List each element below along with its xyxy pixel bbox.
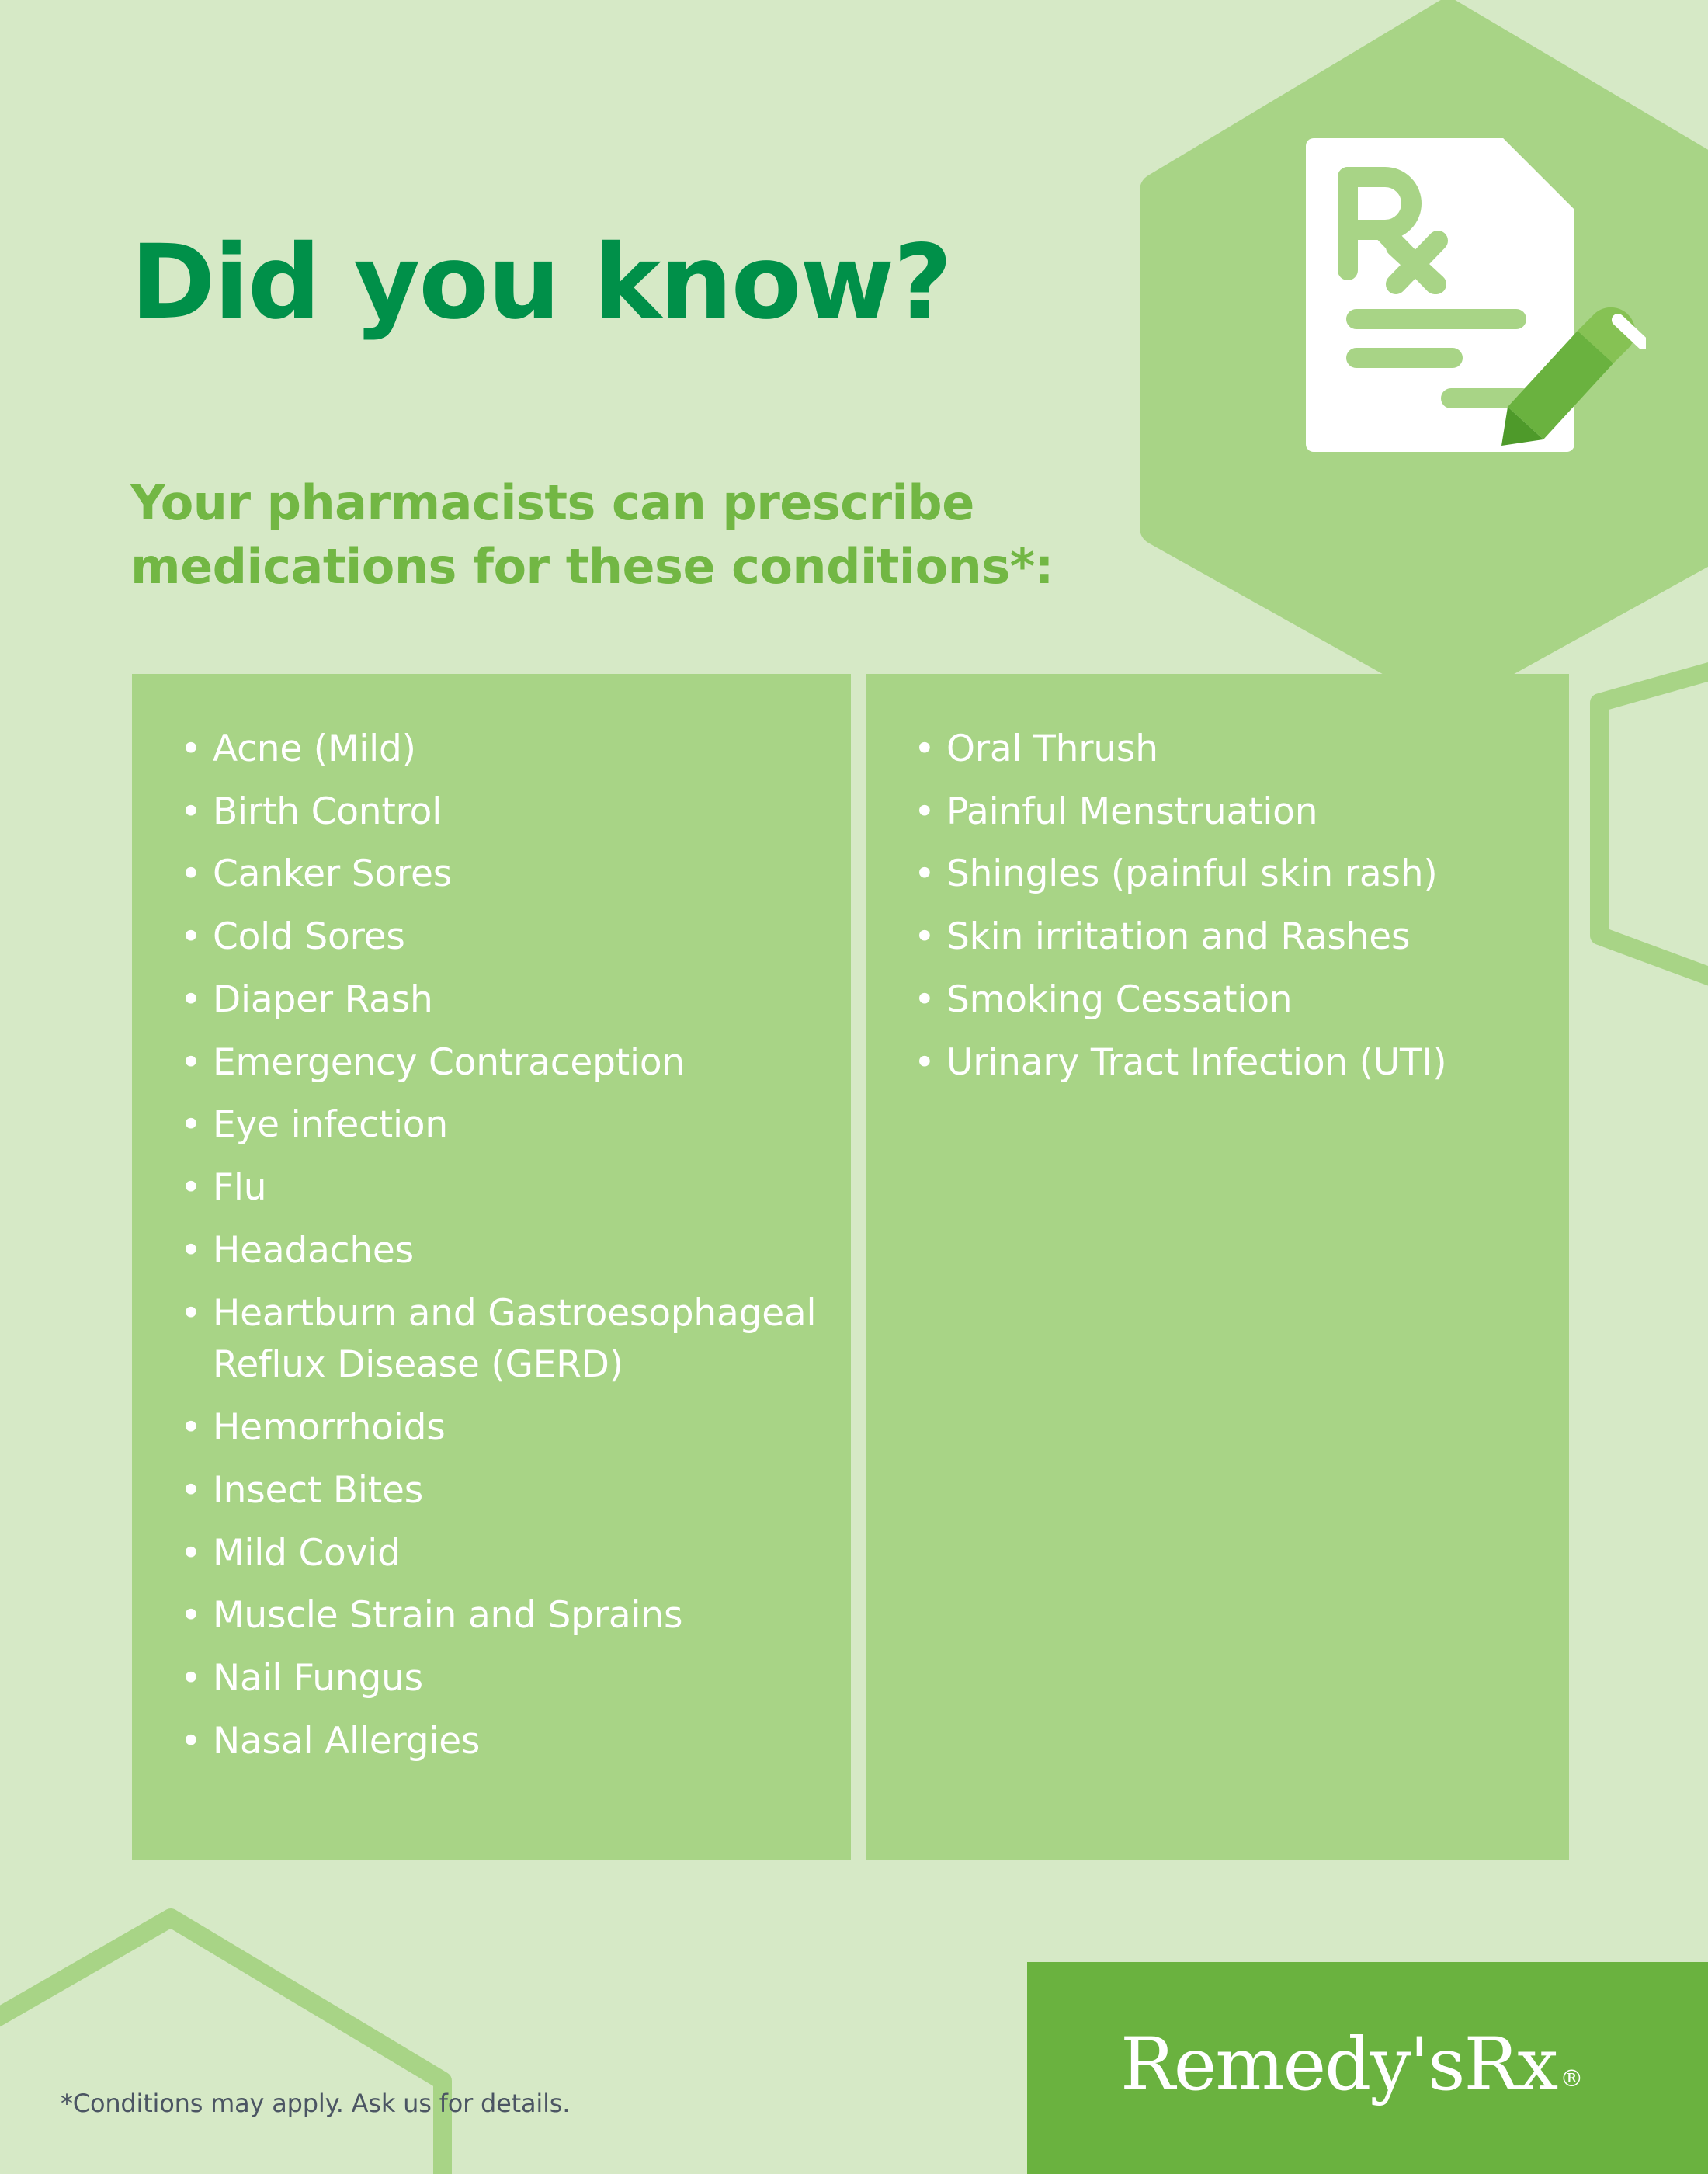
bullet-icon: •	[914, 724, 936, 776]
bullet-icon: •	[914, 849, 936, 901]
brand-logo-name: Remedy'sRx	[1120, 2023, 1557, 2107]
condition-label: Headaches	[213, 1229, 414, 1272]
bullet-icon: •	[180, 1225, 202, 1277]
conditions-card-left: •Acne (Mild)•Birth Control•Canker Sores•…	[132, 674, 851, 1860]
condition-label: Cold Sores	[213, 915, 405, 958]
condition-list-item: •Flu	[175, 1162, 820, 1214]
condition-label: Shingles (painful skin rash)	[946, 853, 1437, 895]
condition-list-item: •Painful Menstruation	[909, 787, 1538, 839]
bullet-icon: •	[180, 1162, 202, 1214]
condition-label: Smoking Cessation	[946, 978, 1292, 1021]
bullet-icon: •	[180, 849, 202, 901]
condition-list-item: •Nasal Allergies	[175, 1716, 820, 1768]
condition-label: Skin irritation and Rashes	[946, 915, 1410, 958]
bullet-icon: •	[180, 1716, 202, 1768]
page-subtitle: Your pharmacists can prescribe medicatio…	[130, 471, 1109, 599]
condition-list-item: •Heartburn and Gastroesophageal Reflux D…	[175, 1288, 820, 1391]
bullet-icon: •	[180, 1465, 202, 1517]
condition-list-item: •Canker Sores	[175, 849, 820, 901]
condition-list-item: •Oral Thrush	[909, 724, 1538, 776]
bullet-icon: •	[180, 1653, 202, 1705]
condition-label: Nail Fungus	[213, 1657, 423, 1700]
condition-list-item: •Skin irritation and Rashes	[909, 912, 1538, 964]
bullet-icon: •	[180, 724, 202, 776]
bullet-icon: •	[180, 974, 202, 1026]
brand-logo-bar: Remedy'sRx®	[1027, 1962, 1708, 2174]
condition-label: Emergency Contraception	[213, 1041, 685, 1084]
condition-list-item: •Eye infection	[175, 1099, 820, 1151]
poster-root: Did you know? Your pharmacists can presc…	[0, 0, 1708, 2174]
condition-label: Canker Sores	[213, 853, 452, 895]
document-line-1	[1346, 309, 1526, 329]
condition-label: Diaper Rash	[213, 978, 433, 1021]
condition-label: Nasal Allergies	[213, 1720, 480, 1762]
conditions-list-right: •Oral Thrush•Painful Menstruation•Shingl…	[866, 674, 1569, 1089]
condition-list-item: •Emergency Contraception	[175, 1037, 820, 1089]
condition-label: Eye infection	[213, 1103, 448, 1146]
condition-list-item: •Acne (Mild)	[175, 724, 820, 776]
condition-label: Heartburn and Gastroesophageal Reflux Di…	[213, 1292, 816, 1387]
condition-list-item: •Smoking Cessation	[909, 974, 1538, 1026]
condition-list-item: •Mild Covid	[175, 1528, 820, 1580]
page-title: Did you know?	[130, 231, 951, 334]
condition-list-item: •Shingles (painful skin rash)	[909, 849, 1538, 901]
condition-label: Acne (Mild)	[213, 728, 416, 770]
bullet-icon: •	[180, 1528, 202, 1580]
footnote-text: *Conditions may apply. Ask us for detail…	[61, 2089, 570, 2118]
condition-list-item: •Cold Sores	[175, 912, 820, 964]
brand-logo-wordmark: Remedy'sRx®	[1120, 2023, 1578, 2107]
bullet-icon: •	[180, 1402, 202, 1454]
document-line-2	[1346, 348, 1463, 368]
condition-list-item: •Urinary Tract Infection (UTI)	[909, 1037, 1538, 1089]
condition-label: Mild Covid	[213, 1532, 401, 1575]
bullet-icon: •	[180, 1288, 202, 1340]
condition-list-item: •Muscle Strain and Sprains	[175, 1590, 820, 1642]
bullet-icon: •	[180, 1099, 202, 1151]
bullet-icon: •	[180, 1037, 202, 1089]
rx-prescription-icon	[1304, 132, 1646, 466]
condition-label: Hemorrhoids	[213, 1406, 446, 1449]
bullet-icon: •	[914, 787, 936, 839]
bullet-icon: •	[180, 912, 202, 964]
bullet-icon: •	[914, 974, 936, 1026]
conditions-card-right: •Oral Thrush•Painful Menstruation•Shingl…	[866, 674, 1569, 1860]
condition-list-item: •Insect Bites	[175, 1465, 820, 1517]
condition-label: Insect Bites	[213, 1469, 423, 1512]
condition-label: Painful Menstruation	[946, 790, 1317, 833]
document-folded-corner	[1503, 138, 1574, 210]
hexagon-outline-right	[1599, 652, 1708, 1002]
bullet-icon: •	[914, 1037, 936, 1089]
bullet-icon: •	[180, 1590, 202, 1642]
condition-label: Birth Control	[213, 790, 442, 833]
hexagon-outline-bottom-left	[0, 1918, 443, 2174]
condition-list-item: •Nail Fungus	[175, 1653, 820, 1705]
condition-label: Muscle Strain and Sprains	[213, 1594, 682, 1637]
condition-label: Flu	[213, 1166, 266, 1209]
condition-label: Oral Thrush	[946, 728, 1158, 770]
condition-label: Urinary Tract Infection (UTI)	[946, 1041, 1446, 1084]
conditions-list-left: •Acne (Mild)•Birth Control•Canker Sores•…	[132, 674, 851, 1767]
bullet-icon: •	[914, 912, 936, 964]
registered-trademark-icon: ®	[1560, 2065, 1581, 2092]
condition-list-item: •Diaper Rash	[175, 974, 820, 1026]
condition-list-item: •Headaches	[175, 1225, 820, 1277]
bullet-icon: •	[180, 787, 202, 839]
condition-list-item: •Hemorrhoids	[175, 1402, 820, 1454]
condition-list-item: •Birth Control	[175, 787, 820, 839]
